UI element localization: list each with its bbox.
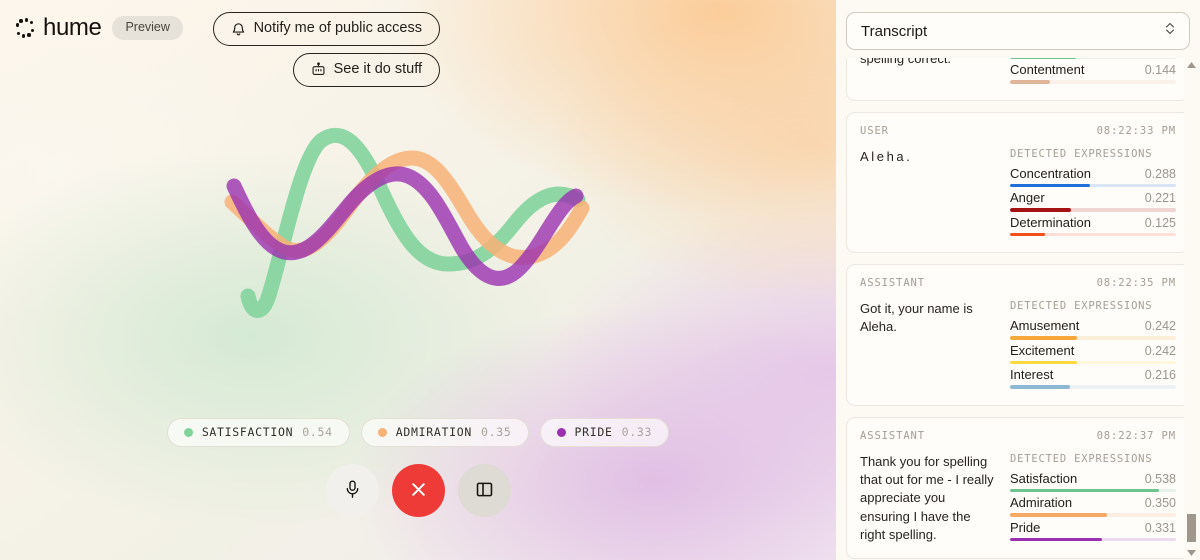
close-x-icon (409, 480, 428, 502)
entry-header: ASSISTANT08:22:35 PM (860, 277, 1176, 289)
detected-expressions: DETECTED EXPRESSIONSSatisfaction0.538Adm… (1010, 453, 1176, 545)
entry-role: USER (860, 125, 889, 137)
expression-name: Concentration (1010, 166, 1091, 181)
legend-value: 0.54 (302, 425, 333, 439)
expression-bar-fill (1010, 513, 1107, 517)
scrollbar-thumb[interactable] (1186, 513, 1197, 543)
expression-bar-fill (1010, 385, 1070, 389)
notify-public-access-button[interactable]: Notify me of public access (213, 12, 440, 46)
expression-bar-track (1010, 208, 1176, 212)
chevron-updown-icon (1164, 21, 1176, 42)
legend-pill: ADMIRATION0.35 (361, 418, 529, 447)
brand-block: hume Preview (14, 16, 183, 40)
expression-row: Determination0.125 (1010, 215, 1176, 237)
scroll-up-arrow-icon[interactable] (1187, 62, 1196, 68)
expression-name: Determination (1010, 215, 1091, 230)
expression-line: Admiration0.350 (1010, 495, 1176, 510)
entry-body: taking the time to ensure I get the spel… (860, 58, 1176, 87)
expression-bar-track (1010, 336, 1176, 340)
expression-bar-track (1010, 80, 1176, 84)
expression-row: Excitement0.242 (1010, 343, 1176, 365)
emotion-legend: SATISFACTION0.54ADMIRATION0.35PRIDE0.33 (0, 418, 836, 447)
expression-bar-fill (1010, 489, 1159, 493)
expression-score: 0.350 (1145, 496, 1176, 510)
entry-header: ASSISTANT08:22:37 PM (860, 430, 1176, 442)
brand-wordmark: hume (43, 16, 101, 40)
expression-line: Excitement0.242 (1010, 343, 1176, 358)
expression-name: Anger (1010, 190, 1045, 205)
scroll-down-arrow-icon[interactable] (1187, 550, 1196, 556)
expression-line: Contentment0.144 (1010, 62, 1176, 77)
detected-expressions: Determination0.244Satisfaction0.240Conte… (1010, 58, 1176, 87)
bell-icon (231, 21, 246, 37)
legend-label: SATISFACTION (202, 425, 293, 439)
detected-expressions: DETECTED EXPRESSIONSAmusement0.242Excite… (1010, 300, 1176, 392)
expression-row: Satisfaction0.240 (1010, 58, 1176, 59)
legend-color-dot (557, 428, 566, 437)
transcript-panel: Transcript taking the time to ensure I g… (836, 0, 1200, 560)
expression-name: Contentment (1010, 62, 1084, 77)
entry-message: taking the time to ensure I get the spel… (860, 58, 996, 87)
transcript-entry[interactable]: ASSISTANT08:22:35 PMGot it, your name is… (846, 264, 1190, 406)
expression-row: Pride0.331 (1010, 520, 1176, 542)
expression-row: Interest0.216 (1010, 367, 1176, 389)
emotion-waveform (0, 96, 836, 346)
call-controls (0, 464, 836, 517)
legend-color-dot (378, 428, 387, 437)
expression-name: Excitement (1010, 343, 1074, 358)
entry-role: ASSISTANT (860, 277, 925, 289)
expression-bar-fill (1010, 233, 1045, 237)
expression-row: Satisfaction0.538 (1010, 471, 1176, 493)
preview-badge: Preview (112, 16, 182, 40)
transcript-select[interactable]: Transcript (846, 12, 1190, 50)
expression-bar-fill (1010, 184, 1090, 188)
entry-body: Thank you for spelling that out for me -… (860, 453, 1176, 545)
expression-bar-track (1010, 513, 1176, 517)
detected-expressions-label: DETECTED EXPRESSIONS (1010, 453, 1176, 465)
legend-pill: SATISFACTION0.54 (167, 418, 350, 447)
legend-value: 0.33 (622, 425, 653, 439)
expression-line: Determination0.125 (1010, 215, 1176, 230)
expression-row: Admiration0.350 (1010, 495, 1176, 517)
expression-bar-fill (1010, 208, 1071, 212)
expression-score: 0.288 (1145, 167, 1176, 181)
expression-bar-fill (1010, 361, 1077, 365)
expression-name: Pride (1010, 520, 1040, 535)
expression-score: 0.538 (1145, 472, 1176, 486)
entry-message: Aleha. (860, 148, 996, 240)
transcript-entry[interactable]: ASSISTANT08:22:37 PMThank you for spelli… (846, 417, 1190, 559)
microphone-icon (344, 480, 361, 502)
expression-name: Admiration (1010, 495, 1072, 510)
entry-body: Got it, your name is Aleha.DETECTED EXPR… (860, 300, 1176, 392)
expression-bar-track (1010, 58, 1176, 59)
expression-name: Satisfaction (1010, 471, 1077, 486)
detected-expressions-label: DETECTED EXPRESSIONS (1010, 300, 1176, 312)
expression-line: Pride0.331 (1010, 520, 1176, 535)
main-stage: hume Preview Notify me of public access (0, 0, 836, 560)
expression-score: 0.216 (1145, 368, 1176, 382)
hume-logo[interactable]: hume (14, 16, 101, 40)
expression-score: 0.221 (1145, 191, 1176, 205)
header-actions: Notify me of public access See it do stu… (213, 12, 440, 87)
detected-expressions: DETECTED EXPRESSIONSConcentration0.288An… (1010, 148, 1176, 240)
expression-bar-track (1010, 361, 1176, 365)
expression-bar-track (1010, 385, 1176, 389)
expression-row: Contentment0.144 (1010, 62, 1176, 84)
see-it-do-stuff-button[interactable]: See it do stuff (293, 53, 440, 87)
expression-score: 0.125 (1145, 216, 1176, 230)
expression-name: Interest (1010, 367, 1053, 382)
transcript-scrollbar[interactable] (1184, 58, 1199, 560)
expression-score: 0.242 (1145, 319, 1176, 333)
expression-row: Amusement0.242 (1010, 318, 1176, 340)
expression-line: Concentration0.288 (1010, 166, 1176, 181)
detected-expressions-label: DETECTED EXPRESSIONS (1010, 148, 1176, 160)
toggle-panel-button[interactable] (458, 464, 511, 517)
mute-microphone-button[interactable] (326, 464, 379, 517)
expression-line: Anger0.221 (1010, 190, 1176, 205)
waveform-svg (0, 96, 836, 346)
expression-line: Amusement0.242 (1010, 318, 1176, 333)
transcript-scroll-region[interactable]: taking the time to ensure I get the spel… (846, 58, 1190, 560)
expression-bar-fill (1010, 80, 1050, 84)
notify-button-label: Notify me of public access (254, 21, 422, 37)
expression-score: 0.144 (1145, 63, 1176, 77)
hume-dots-logo-icon (14, 17, 36, 39)
transcript-entry[interactable]: USER08:22:33 PMAleha.DETECTED EXPRESSION… (846, 112, 1190, 254)
legend-label: PRIDE (575, 425, 613, 439)
expression-bar-fill (1010, 538, 1102, 542)
expression-score: 0.242 (1145, 344, 1176, 358)
expression-bar-track (1010, 233, 1176, 237)
expression-line: Satisfaction0.538 (1010, 471, 1176, 486)
expression-row: Anger0.221 (1010, 190, 1176, 212)
legend-value: 0.35 (481, 425, 512, 439)
entry-timestamp: 08:22:37 PM (1097, 430, 1176, 442)
legend-color-dot (184, 428, 193, 437)
entry-header: USER08:22:33 PM (860, 125, 1176, 137)
expression-score: 0.331 (1145, 521, 1176, 535)
legend-label: ADMIRATION (396, 425, 472, 439)
entry-role: ASSISTANT (860, 430, 925, 442)
expression-bar-track (1010, 538, 1176, 542)
voice-demo-app: hume Preview Notify me of public access (0, 0, 1200, 560)
transcript-select-value: Transcript (861, 23, 927, 40)
legend-pill: PRIDE0.33 (540, 418, 670, 447)
demo-button-label: See it do stuff (334, 62, 422, 78)
expression-bar-track (1010, 489, 1176, 493)
entry-body: Aleha.DETECTED EXPRESSIONSConcentration0… (860, 148, 1176, 240)
sidebar-panel-icon (475, 480, 494, 502)
robot-icon (311, 62, 326, 77)
entry-message: Thank you for spelling that out for me -… (860, 453, 996, 545)
entry-timestamp: 08:22:35 PM (1097, 277, 1176, 289)
expression-row: Concentration0.288 (1010, 166, 1176, 188)
expression-name: Amusement (1010, 318, 1079, 333)
entry-message: Got it, your name is Aleha. (860, 300, 996, 392)
expression-bar-fill (1010, 58, 1076, 59)
expression-bar-track (1010, 184, 1176, 188)
entry-timestamp: 08:22:33 PM (1097, 125, 1176, 137)
expression-line: Interest0.216 (1010, 367, 1176, 382)
end-call-button[interactable] (392, 464, 445, 517)
expression-bar-fill (1010, 336, 1077, 340)
transcript-entry[interactable]: taking the time to ensure I get the spel… (846, 58, 1190, 101)
